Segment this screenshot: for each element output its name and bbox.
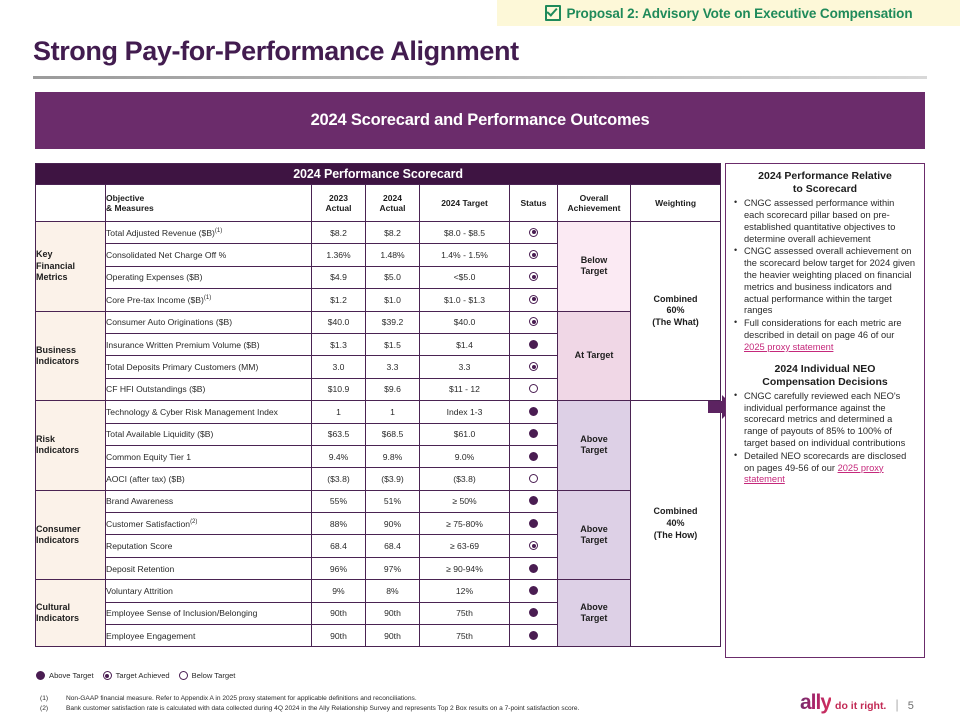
status-below-icon (529, 384, 538, 393)
rp-heading2-line2: Compensation Decisions (733, 376, 917, 389)
legend-label: Target Achieved (116, 671, 170, 680)
column-header-objective-line2: & Measures (106, 203, 311, 213)
rp-heading2-line1: 2024 Individual NEO (733, 363, 917, 376)
list-item: CNGC assessed performance within each sc… (733, 198, 917, 245)
metric-status-cell (510, 222, 558, 244)
status-below-icon (529, 474, 538, 483)
legend-label: Above Target (49, 671, 94, 680)
metric-name: Total Available Liquidity ($B) (106, 423, 312, 445)
metric-status-cell (510, 625, 558, 647)
section-banner: 2024 Scorecard and Performance Outcomes (35, 92, 925, 149)
status-legend: Above TargetTarget AchievedBelow Target (36, 671, 235, 680)
status-achieved-icon (529, 272, 538, 281)
metric-name: Employee Engagement (106, 625, 312, 647)
overall-achievement-cell: BelowTarget (558, 222, 631, 312)
ally-logo: ally (800, 691, 831, 715)
right-panel-bullets-2: CNGC carefully reviewed each NEO's indiv… (733, 391, 917, 486)
metric-2024-actual: $8.2 (366, 222, 420, 244)
status-achieved-icon (529, 295, 538, 304)
overall-achievement-cell: AboveTarget (558, 580, 631, 647)
category-cell-cultural: CulturalIndicators (36, 580, 106, 647)
category-label-line: Risk (36, 434, 105, 445)
overall-achievement-cell: AboveTarget (558, 401, 631, 491)
metric-status-cell (510, 289, 558, 311)
col-2024-l2: Actual (366, 203, 419, 213)
performance-commentary-panel: 2024 Performance Relative to Scorecard C… (725, 163, 925, 658)
footnote-text: Non-GAAP financial measure. Refer to App… (66, 694, 417, 704)
achievement-label-line: Target (558, 613, 630, 624)
metric-status-cell (510, 244, 558, 266)
metric-status-cell (510, 311, 558, 333)
metric-2024-actual: 8% (366, 580, 420, 602)
metric-name: Customer Satisfaction(2) (106, 513, 312, 535)
metric-status-cell (510, 602, 558, 624)
col-overall-l2: Achievement (558, 203, 630, 213)
metric-2024-actual: 3.3 (366, 356, 420, 378)
metric-status-cell (510, 513, 558, 535)
metric-2023-actual: $1.2 (312, 289, 366, 311)
column-header-blank (36, 185, 106, 222)
weighting-label-line: (The How) (631, 530, 720, 542)
legend-item: Below Target (179, 671, 236, 680)
status-above-icon (529, 564, 538, 573)
footnote: (2)Bank customer satisfaction rate is ca… (40, 704, 780, 714)
category-cell-key: KeyFinancialMetrics (36, 222, 106, 312)
metric-2023-actual: $4.9 (312, 266, 366, 288)
footnote-number: (1) (40, 694, 66, 704)
scorecard-title-row: 2024 Performance Scorecard (36, 164, 721, 185)
metric-status-cell (510, 401, 558, 423)
metric-2023-actual: 88% (312, 513, 366, 535)
weighting-label-line: Combined (631, 506, 720, 518)
weighting-cell: Combined60%(The What) (631, 222, 721, 401)
metric-name: Core Pre-tax Income ($B)(1) (106, 289, 312, 311)
table-row: BusinessIndicatorsConsumer Auto Originat… (36, 311, 721, 333)
metric-2023-actual: 3.0 (312, 356, 366, 378)
achievement-label-line: Target (558, 535, 630, 546)
overall-achievement-cell: At Target (558, 311, 631, 401)
category-label-line: Business (36, 345, 105, 356)
legend-item: Above Target (36, 671, 94, 680)
status-achieved-icon (529, 228, 538, 237)
legend-item: Target Achieved (103, 671, 170, 680)
category-cell-consumer: ConsumerIndicators (36, 490, 106, 580)
metric-2024-actual: 1 (366, 401, 420, 423)
metric-name: Consumer Auto Originations ($B) (106, 311, 312, 333)
page-title: Strong Pay-for-Performance Alignment (33, 36, 519, 67)
col-overall-l1: Overall (558, 193, 630, 203)
metric-name: Technology & Cyber Risk Management Index (106, 401, 312, 423)
weighting-label-line: Combined (631, 294, 720, 306)
footnote-number: (2) (40, 704, 66, 714)
metric-2023-actual: 68.4 (312, 535, 366, 557)
list-item: CNGC carefully reviewed each NEO's indiv… (733, 391, 917, 450)
metric-2024-actual: 1.48% (366, 244, 420, 266)
metric-status-cell (510, 423, 558, 445)
bullet-text: Full considerations for each metric are … (744, 318, 902, 340)
footer-tagline: do it right. (835, 700, 886, 712)
metric-2024-target: $40.0 (420, 311, 510, 333)
metric-name: AOCI (after tax) ($B) (106, 468, 312, 490)
metric-2024-target: 12% (420, 580, 510, 602)
table-row: CulturalIndicatorsVoluntary Attrition9%8… (36, 580, 721, 602)
footnote-ref: (2) (190, 519, 197, 525)
status-achieved-icon (529, 250, 538, 259)
metric-2024-target: 3.3 (420, 356, 510, 378)
status-achieved-icon (529, 541, 538, 550)
right-panel-bullets-1: CNGC assessed performance within each sc… (733, 198, 917, 353)
col-2023-l2: Actual (312, 203, 365, 213)
section-banner-text: 2024 Scorecard and Performance Outcomes (311, 111, 650, 130)
status-above-icon (529, 340, 538, 349)
metric-name: CF HFI Outstandings ($B) (106, 378, 312, 400)
weighting-cell: Combined40%(The How) (631, 401, 721, 647)
metric-2024-target: $1.4 (420, 333, 510, 355)
metric-2023-actual: 1.36% (312, 244, 366, 266)
status-achieved-icon (529, 317, 538, 326)
weighting-label-line: (The What) (631, 317, 720, 329)
metric-name: Reputation Score (106, 535, 312, 557)
weighting-label-line: 40% (631, 518, 720, 530)
metric-name: Deposit Retention (106, 557, 312, 579)
metric-status-cell (510, 445, 558, 467)
achievement-label-line: Above (558, 434, 630, 445)
column-header-status: Status (510, 185, 558, 222)
overall-achievement-cell: AboveTarget (558, 490, 631, 580)
column-header-objective: Objective & Measures (106, 185, 312, 222)
table-row: KeyFinancialMetricsTotal Adjusted Revenu… (36, 222, 721, 244)
metric-2024-actual: $5.0 (366, 266, 420, 288)
footnote-text: Bank customer satisfaction rate is calcu… (66, 704, 579, 714)
footnote-ref: (1) (204, 295, 211, 301)
achievement-label-line: At Target (558, 350, 630, 361)
metric-2024-actual: $68.5 (366, 423, 420, 445)
checkbox-checked-icon (545, 5, 561, 21)
metric-2024-target: ≥ 75-80% (420, 513, 510, 535)
col-2024-l1: 2024 (366, 193, 419, 203)
right-panel-heading-1: 2024 Performance Relative to Scorecard (733, 170, 917, 196)
column-header-2024-target: 2024 Target (420, 185, 510, 222)
metric-2024-actual: 90th (366, 602, 420, 624)
page-number: 5 (908, 700, 914, 712)
metric-2023-actual: ($3.8) (312, 468, 366, 490)
metric-2023-actual: $1.3 (312, 333, 366, 355)
metric-2024-target: ≥ 63-69 (420, 535, 510, 557)
achievement-label-line: Above (558, 524, 630, 535)
metric-name: Voluntary Attrition (106, 580, 312, 602)
status-above-icon (529, 429, 538, 438)
category-label-line: Key (36, 249, 105, 260)
metric-2023-actual: 9.4% (312, 445, 366, 467)
weighting-label-line: 60% (631, 305, 720, 317)
metric-status-cell (510, 580, 558, 602)
metric-status-cell (510, 535, 558, 557)
metric-2024-target: $1.0 - $1.3 (420, 289, 510, 311)
rp-heading1-line1: 2024 Performance Relative (733, 170, 917, 183)
metric-2024-target: <$5.0 (420, 266, 510, 288)
status-achieved-icon (103, 671, 112, 680)
metric-2024-actual: $1.0 (366, 289, 420, 311)
achievement-label-line: Above (558, 602, 630, 613)
metric-2024-target: ($3.8) (420, 468, 510, 490)
category-label-line: Cultural (36, 602, 105, 613)
category-cell-business: BusinessIndicators (36, 311, 106, 401)
metric-name: Insurance Written Premium Volume ($B) (106, 333, 312, 355)
footnotes: (1)Non-GAAP financial measure. Refer to … (40, 694, 780, 714)
scorecard-title: 2024 Performance Scorecard (36, 164, 721, 185)
metric-2024-actual: 97% (366, 557, 420, 579)
rp-heading1-line2: to Scorecard (733, 183, 917, 196)
metric-2023-actual: $8.2 (312, 222, 366, 244)
achievement-label-line: Target (558, 266, 630, 277)
proxy-statement-link[interactable]: 2025 proxy statement (744, 342, 833, 352)
footer: ally do it right. | 5 (800, 691, 914, 715)
table-row: RiskIndicatorsTechnology & Cyber Risk Ma… (36, 401, 721, 423)
metric-2024-actual: $39.2 (366, 311, 420, 333)
col-2023-l1: 2023 (312, 193, 365, 203)
metric-2023-actual: 90th (312, 602, 366, 624)
metric-2024-actual: ($3.9) (366, 468, 420, 490)
list-item: Detailed NEO scorecards are disclosed on… (733, 451, 917, 486)
status-above-icon (529, 452, 538, 461)
status-above-icon (529, 608, 538, 617)
metric-2024-target: ≥ 90-94% (420, 557, 510, 579)
performance-scorecard-table: 2024 Performance Scorecard Objective & M… (35, 163, 721, 647)
column-header-overall-achievement: Overall Achievement (558, 185, 631, 222)
proposal-banner: Proposal 2: Advisory Vote on Executive C… (497, 0, 960, 26)
achievement-label-line: Target (558, 445, 630, 456)
metric-2024-target: $8.0 - $8.5 (420, 222, 510, 244)
metric-2024-actual: $9.6 (366, 378, 420, 400)
metric-status-cell (510, 356, 558, 378)
column-header-weighting: Weighting (631, 185, 721, 222)
category-label-line: Indicators (36, 445, 105, 456)
metric-name: Brand Awareness (106, 490, 312, 512)
status-above-icon (529, 631, 538, 640)
category-label-line: Metrics (36, 272, 105, 283)
metric-2023-actual: $63.5 (312, 423, 366, 445)
category-cell-risk: RiskIndicators (36, 401, 106, 491)
category-label-line: Financial (36, 261, 105, 272)
status-below-icon (179, 671, 188, 680)
metric-2024-target: $11 - 12 (420, 378, 510, 400)
metric-status-cell (510, 490, 558, 512)
metric-2024-actual: $1.5 (366, 333, 420, 355)
metric-2024-actual: 9.8% (366, 445, 420, 467)
metric-name: Total Adjusted Revenue ($B)(1) (106, 222, 312, 244)
metric-2023-actual: $10.9 (312, 378, 366, 400)
category-label-line: Indicators (36, 535, 105, 546)
title-divider (33, 76, 927, 79)
metric-status-cell (510, 266, 558, 288)
metric-name: Employee Sense of Inclusion/Belonging (106, 602, 312, 624)
metric-2024-target: 75th (420, 602, 510, 624)
footer-divider: | (895, 697, 898, 712)
metric-2023-actual: 1 (312, 401, 366, 423)
list-item: Full considerations for each metric are … (733, 318, 917, 353)
column-header-2024-actual: 2024 Actual (366, 185, 420, 222)
status-above-icon (529, 496, 538, 505)
metric-2024-target: 75th (420, 625, 510, 647)
status-above-icon (529, 519, 538, 528)
metric-status-cell (510, 333, 558, 355)
metric-2024-actual: 68.4 (366, 535, 420, 557)
scorecard-header-row: Objective & Measures 2023 Actual 2024 Ac… (36, 185, 721, 222)
metric-status-cell (510, 557, 558, 579)
metric-2023-actual: 90th (312, 625, 366, 647)
metric-2024-target: $61.0 (420, 423, 510, 445)
footnote: (1)Non-GAAP financial measure. Refer to … (40, 694, 780, 704)
footnote-ref: (1) (215, 228, 222, 234)
metric-2024-target: 1.4% - 1.5% (420, 244, 510, 266)
metric-2024-actual: 51% (366, 490, 420, 512)
achievement-label-line: Below (558, 255, 630, 266)
metric-2023-actual: 96% (312, 557, 366, 579)
metric-2024-target: 9.0% (420, 445, 510, 467)
column-header-objective-line1: Objective (106, 193, 311, 203)
metric-name: Operating Expenses ($B) (106, 266, 312, 288)
metric-2024-target: ≥ 50% (420, 490, 510, 512)
metric-name: Consolidated Net Charge Off % (106, 244, 312, 266)
category-label-line: Indicators (36, 356, 105, 367)
legend-label: Below Target (192, 671, 236, 680)
metric-2024-target: Index 1-3 (420, 401, 510, 423)
metric-2023-actual: 55% (312, 490, 366, 512)
category-label-line: Consumer (36, 524, 105, 535)
proposal-banner-text: Proposal 2: Advisory Vote on Executive C… (567, 6, 913, 21)
status-above-icon (529, 407, 538, 416)
metric-name: Total Deposits Primary Customers (MM) (106, 356, 312, 378)
right-panel-heading-2: 2024 Individual NEO Compensation Decisio… (733, 363, 917, 389)
metric-2024-actual: 90th (366, 625, 420, 647)
metric-2024-actual: 90% (366, 513, 420, 535)
column-header-2023-actual: 2023 Actual (312, 185, 366, 222)
metric-status-cell (510, 378, 558, 400)
metric-2023-actual: 9% (312, 580, 366, 602)
category-label-line: Indicators (36, 613, 105, 624)
metric-status-cell (510, 468, 558, 490)
status-above-icon (36, 671, 45, 680)
metric-2023-actual: $40.0 (312, 311, 366, 333)
metric-name: Common Equity Tier 1 (106, 445, 312, 467)
table-row: ConsumerIndicatorsBrand Awareness55%51%≥… (36, 490, 721, 512)
status-above-icon (529, 586, 538, 595)
status-achieved-icon (529, 362, 538, 371)
list-item: CNGC assessed overall achievement on the… (733, 246, 917, 317)
